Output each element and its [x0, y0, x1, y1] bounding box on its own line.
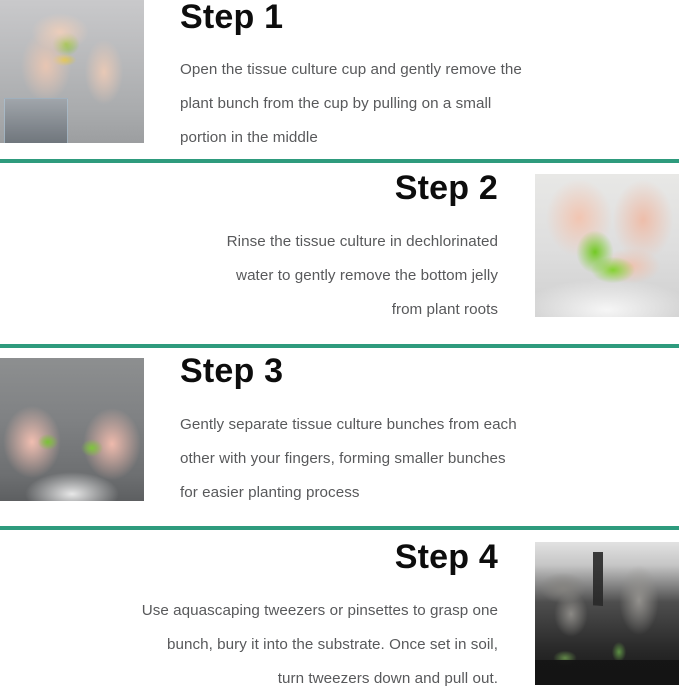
step-section-4: Step 4 Use aquascaping tweezers or pinse… — [0, 530, 679, 695]
step-section-1: Step 1 Open the tissue culture cup and g… — [0, 0, 679, 159]
step-1-body-line-1: Open the tissue culture cup and gently r… — [180, 53, 625, 87]
step-4-photo — [535, 542, 679, 685]
step-1-body: Open the tissue culture cup and gently r… — [180, 34, 625, 155]
step-4-body-line-2: bunch, bury it into the substrate. Once … — [24, 628, 498, 662]
step-3-body: Gently separate tissue culture bunches f… — [180, 388, 603, 510]
step-4-title: Step 4 — [24, 530, 498, 574]
step-3-title: Step 3 — [180, 348, 603, 388]
step-1-photo — [0, 0, 144, 143]
step-1-content: Step 1 Open the tissue culture cup and g… — [144, 0, 679, 155]
hands-separating-plant-bunches-photo — [0, 358, 144, 501]
step-2-body-line-2: water to gently remove the bottom jelly — [40, 259, 498, 293]
planting-steps-infographic: Step 1 Open the tissue culture cup and g… — [0, 0, 679, 683]
step-4-content: Step 4 Use aquascaping tweezers or pinse… — [0, 530, 535, 696]
step-2-body-line-3: from plant roots — [40, 293, 498, 327]
hands-opening-tissue-culture-cup-photo — [0, 0, 144, 143]
aquascape-rocks-substrate-tweezers-photo — [535, 542, 679, 685]
step-3-body-line-2: other with your fingers, forming smaller… — [180, 442, 603, 476]
step-2-content: Step 2 Rinse the tissue culture in dechl… — [0, 163, 535, 327]
step-1-body-line-3: portion in the middle — [180, 121, 625, 155]
step-1-title: Step 1 — [180, 0, 625, 34]
step-2-title: Step 2 — [40, 163, 498, 205]
step-section-2: Step 2 Rinse the tissue culture in dechl… — [0, 163, 679, 344]
step-4-body-line-1: Use aquascaping tweezers or pinsettes to… — [24, 594, 498, 628]
step-4-body: Use aquascaping tweezers or pinsettes to… — [24, 574, 498, 696]
hands-rinsing-plant-in-bowl-photo — [535, 174, 679, 317]
step-2-photo — [535, 174, 679, 317]
step-4-body-line-3: turn tweezers down and pull out. — [24, 662, 498, 696]
step-section-3: Step 3 Gently separate tissue culture bu… — [0, 348, 679, 526]
step-1-body-line-2: plant bunch from the cup by pulling on a… — [180, 87, 625, 121]
step-2-body: Rinse the tissue culture in dechlorinate… — [40, 205, 498, 327]
step-3-body-line-3: for easier planting process — [180, 476, 603, 510]
step-2-body-line-1: Rinse the tissue culture in dechlorinate… — [40, 225, 498, 259]
step-3-content: Step 3 Gently separate tissue culture bu… — [144, 348, 679, 510]
step-3-body-line-1: Gently separate tissue culture bunches f… — [180, 408, 603, 442]
step-3-photo — [0, 358, 144, 501]
